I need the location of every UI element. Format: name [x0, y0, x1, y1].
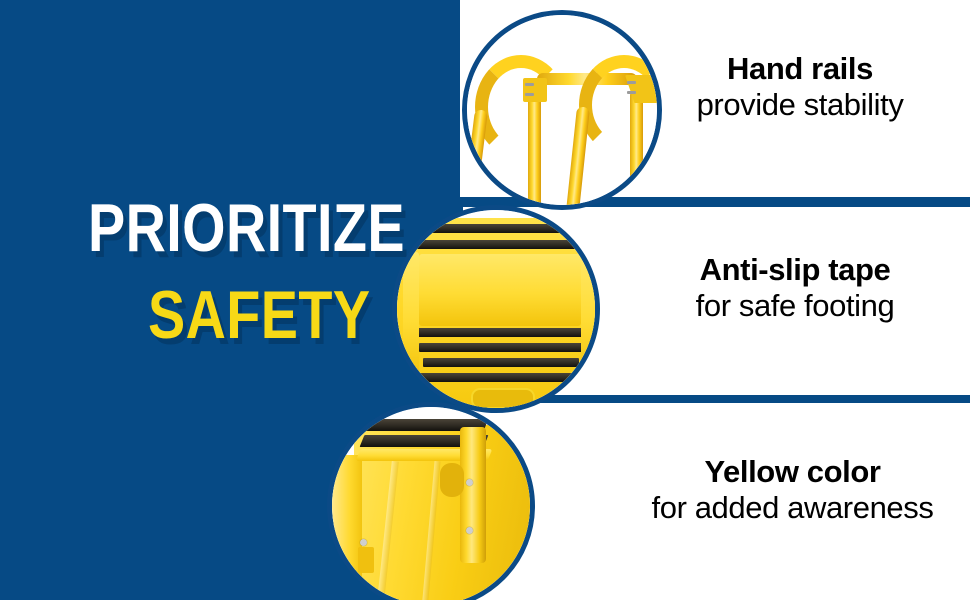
rivet-upper [466, 479, 473, 486]
left-mount-bracket [523, 78, 547, 102]
headline-line-safety: SAFETY [148, 283, 369, 348]
right-rail-inner-leg [630, 89, 643, 205]
tape-strip-bottom-2 [419, 343, 583, 352]
feature-text-anti-slip: Anti-slip tape for safe footing [630, 253, 960, 324]
tape-strip-bottom-1 [415, 328, 587, 337]
carry-handle-slot [471, 388, 535, 408]
step-riser-plate [419, 254, 581, 326]
feature-subtitle-hand-rails: provide stability [640, 87, 960, 124]
tape-strip-bottom-3 [423, 358, 579, 367]
yellow-panel-photo-circle [327, 402, 535, 600]
yellow-panel-photo [332, 407, 530, 600]
bolt-3 [627, 81, 636, 84]
antislip-photo [397, 210, 595, 408]
antislip-photo-circle [392, 205, 600, 413]
bolt-4 [627, 91, 636, 94]
right-side-flange [581, 252, 595, 378]
left-rail-inner-leg [528, 91, 541, 205]
feature-text-hand-rails: Hand rails provide stability [640, 52, 960, 123]
recessed-slot [440, 463, 464, 497]
tape-strip-top-1 [421, 224, 581, 233]
vertical-leg-post [460, 427, 486, 563]
tape-strip-bottom-4 [415, 373, 583, 382]
tape-strip-top-2 [417, 240, 585, 249]
headline-block: PRIORITIZE SAFETY [88, 196, 418, 349]
left-side-flange [403, 252, 419, 378]
left-edge-face [332, 455, 362, 600]
feature-title-yellow-color: Yellow color [620, 455, 965, 490]
feature-text-yellow-color: Yellow color for added awareness [620, 455, 965, 526]
feature-title-hand-rails: Hand rails [640, 52, 960, 87]
rivet-lower [466, 527, 473, 534]
panel-separator-2 [535, 395, 970, 403]
feature-title-anti-slip: Anti-slip tape [630, 253, 960, 288]
lower-fixing-plate [358, 547, 374, 573]
feature-subtitle-yellow-color: for added awareness [620, 490, 965, 527]
feature-subtitle-anti-slip: for safe footing [630, 288, 960, 325]
headline-line-prioritize: PRIORITIZE [88, 196, 359, 261]
bolt-2 [525, 93, 534, 96]
rivet-lower-left [360, 539, 367, 546]
left-rail-arc [475, 55, 567, 159]
handrails-photo [467, 15, 657, 205]
handrails-photo-circle [462, 10, 662, 210]
safety-feature-banner: PRIORITIZE SAFETY Hand rails pr [0, 0, 970, 600]
bolt-1 [525, 83, 534, 86]
